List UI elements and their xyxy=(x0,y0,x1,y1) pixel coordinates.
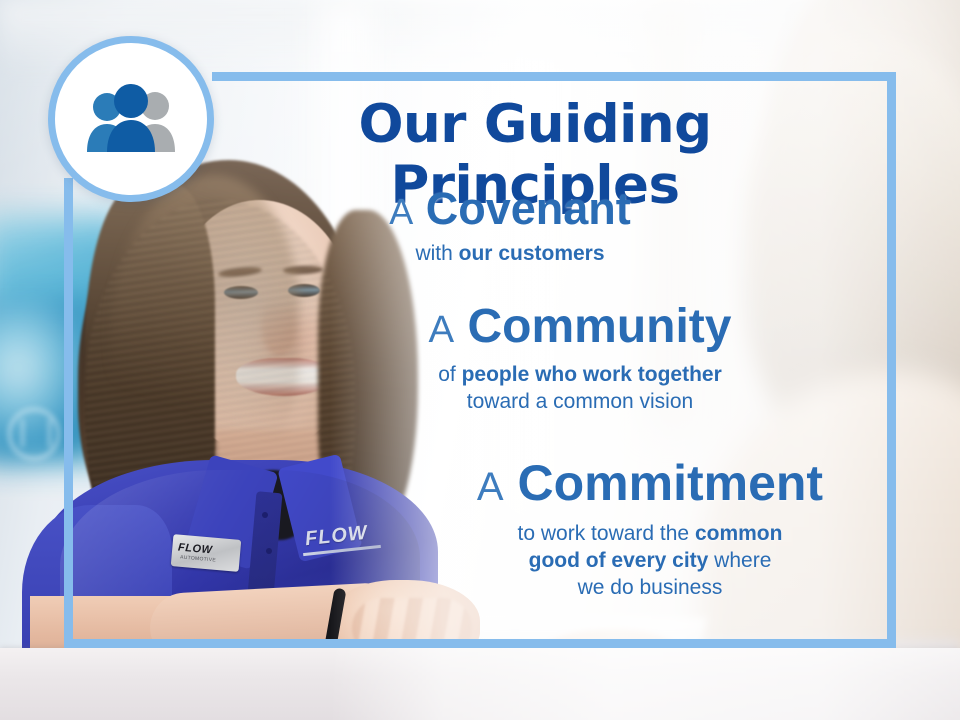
description-fragment: toward a common vision xyxy=(467,390,693,413)
principle-heading: A Community xyxy=(360,302,800,352)
people-group-icon xyxy=(55,43,207,195)
description-line: of people who work together xyxy=(360,362,800,389)
description-fragment: with xyxy=(415,242,458,265)
description-line: we do business xyxy=(420,575,880,602)
description-fragment: common xyxy=(695,522,783,545)
description-line: good of every city where xyxy=(420,548,880,575)
description-line: with our customers xyxy=(300,241,720,268)
principle-article: A xyxy=(429,308,455,351)
guiding-principles-graphic: FLOW AUTOMOTIVE FLOW xyxy=(0,0,960,720)
description-line: to work toward the common xyxy=(420,521,880,548)
principle-community: A Community of people who work together … xyxy=(360,302,800,416)
description-fragment: where xyxy=(708,549,771,572)
principle-commitment: A Commitment to work toward the common g… xyxy=(420,457,880,602)
principle-description: of people who work together toward a com… xyxy=(360,362,800,416)
principle-keyword: Community xyxy=(467,300,731,353)
description-line: toward a common vision xyxy=(360,389,800,416)
people-group-icon-svg xyxy=(79,82,183,156)
principle-description: to work toward the common good of every … xyxy=(420,521,880,602)
principle-description: with our customers xyxy=(300,241,720,268)
description-fragment: our customers xyxy=(459,242,605,265)
principle-keyword: Covenant xyxy=(426,183,631,234)
description-fragment: good of every city xyxy=(529,549,709,572)
description-fragment: people who work together xyxy=(462,363,722,386)
principle-keyword: Commitment xyxy=(518,455,824,511)
people-badge xyxy=(48,36,214,202)
description-fragment: we do business xyxy=(578,576,723,599)
principle-heading: A Commitment xyxy=(420,457,880,509)
principle-heading: A Covenant xyxy=(300,186,720,233)
principle-article: A xyxy=(477,465,504,509)
description-fragment: of xyxy=(438,363,461,386)
principle-article: A xyxy=(389,191,413,232)
principle-covenant: A Covenant with our customers xyxy=(300,186,720,268)
description-fragment: to work toward the xyxy=(518,522,695,545)
